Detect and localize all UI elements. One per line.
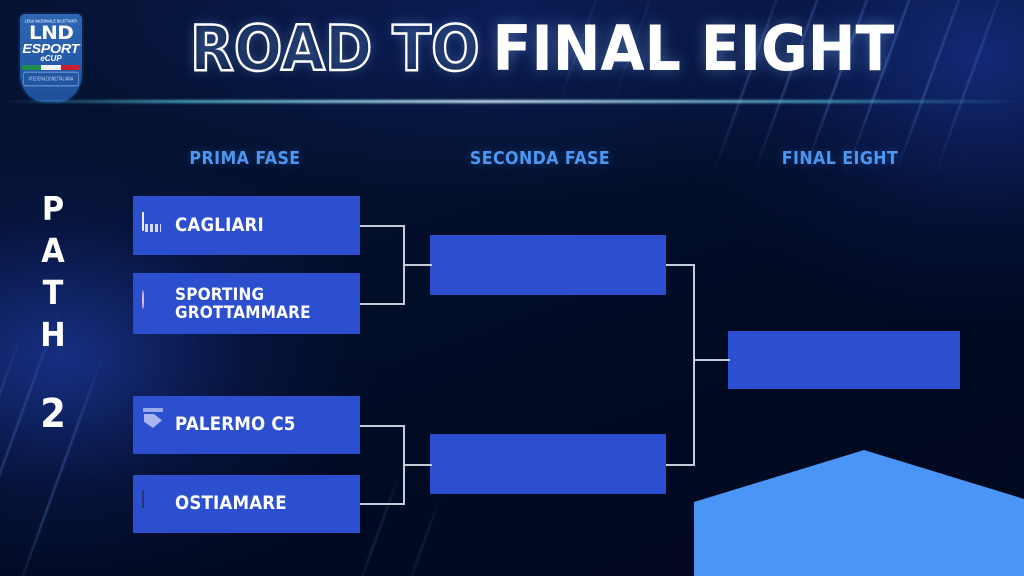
path-label: P A T H 2 [30,188,76,436]
phase-header-final-eight: FINAL EIGHT [620,148,1024,169]
team-name: PALERMO C5 [175,415,296,435]
connector-line [360,425,404,427]
italian-flag-icon [22,65,80,70]
path-letter-a: A [32,230,74,272]
path-letter-p: P [32,188,74,230]
connector-line [403,464,432,466]
bracket-slot-seconda-fase-2[interactable] [430,434,666,494]
logo-banner-text: #FEDERAZIONEITALIANA [23,72,79,87]
team-name: SPORTING GROTTAMMARE [175,286,311,322]
palermo-c5-crest-icon [142,412,166,438]
connector-line [360,503,404,505]
connector-line [403,264,432,266]
lnd-esport-cup-logo: LEGA NAZIONALE DILETTANTI LND ESPORT eCU… [18,12,84,104]
connector-line [666,464,695,466]
team-name: OSTIAMARE [175,494,287,514]
title-part-2: FINAL EIGHT [480,12,895,85]
connector-line [360,225,404,227]
logo-esport-text: ESPORT [23,43,80,55]
connector-line [360,303,404,305]
path-letter-t: T [32,272,74,314]
team-name: CAGLIARI [175,216,264,236]
ostiamare-crest-icon [142,491,166,517]
bracket-slot-seconda-fase-1[interactable] [430,235,666,295]
team-row-sporting-grottammare[interactable]: SPORTING GROTTAMMARE [133,273,360,334]
connector-line [666,264,695,266]
title-underline-glow [0,100,1024,103]
corner-chevron-decoration [694,450,1024,576]
bracket-graphic: LEGA NAZIONALE DILETTANTI LND ESPORT eCU… [0,0,1024,576]
logo-lnd-text: LND [29,23,73,43]
path-number: 2 [32,392,74,436]
cagliari-crest-icon [142,213,166,239]
connector-line [693,359,730,361]
sporting-grottammare-crest-icon [142,291,166,317]
team-row-ostiamare[interactable]: OSTIAMARE [133,475,360,533]
title-part-1: ROAD TO [190,12,480,85]
page-title: ROAD TOFINAL EIGHT [190,16,894,82]
path-letter-h: H [32,314,74,356]
team-row-cagliari[interactable]: CAGLIARI [133,196,360,255]
bracket-slot-final-eight[interactable] [728,331,960,389]
connector-line [693,264,695,466]
team-row-palermo-c5[interactable]: PALERMO C5 [133,396,360,454]
